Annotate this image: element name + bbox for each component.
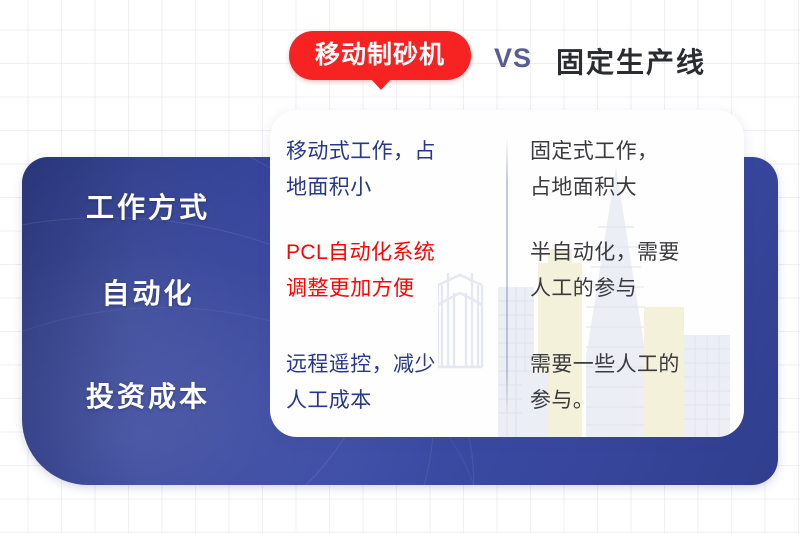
cell-mobile-investment-cost: 远程遥控，减少 人工成本 <box>286 347 500 419</box>
cell-fixed-automation: 半自动化，需要 人工的参与 <box>530 235 742 307</box>
cell-mobile-automation: PCL自动化系统 调整更加方便 <box>286 235 500 307</box>
category-label-investment-cost: 投资成本 <box>36 375 260 415</box>
vs-label: VS <box>494 43 532 74</box>
fixed-line-title: 固定生产线 <box>556 41 706 81</box>
header-row: 移动制砂机 VS 固定生产线 <box>0 24 800 88</box>
comparison-card: 移动式工作，占 地面积小 PCL自动化系统 调整更加方便 远程遥控，减少 人工成… <box>270 110 744 437</box>
mobile-badge-label: 移动制砂机 <box>289 31 471 80</box>
mobile-badge: 移动制砂机 <box>289 31 471 80</box>
category-label-work-method: 工作方式 <box>36 186 260 226</box>
mobile-badge-pill: 移动制砂机 <box>289 31 471 80</box>
cell-mobile-work-method: 移动式工作，占 地面积小 <box>286 134 500 206</box>
fixed-column: 固定式工作， 占地面积大 半自动化，需要 人工的参与 需要一些人工的 参与。 <box>508 110 744 437</box>
mobile-column: 移动式工作，占 地面积小 PCL自动化系统 调整更加方便 远程遥控，减少 人工成… <box>270 110 506 437</box>
badge-pointer-icon <box>370 78 392 90</box>
infographic-canvas: 移动制砂机 VS 固定生产线 工作方式 自动化 投资成本 <box>0 0 800 533</box>
category-label-automation: 自动化 <box>36 272 260 312</box>
cell-fixed-investment-cost: 需要一些人工的 参与。 <box>530 347 742 419</box>
cell-fixed-work-method: 固定式工作， 占地面积大 <box>530 134 742 206</box>
